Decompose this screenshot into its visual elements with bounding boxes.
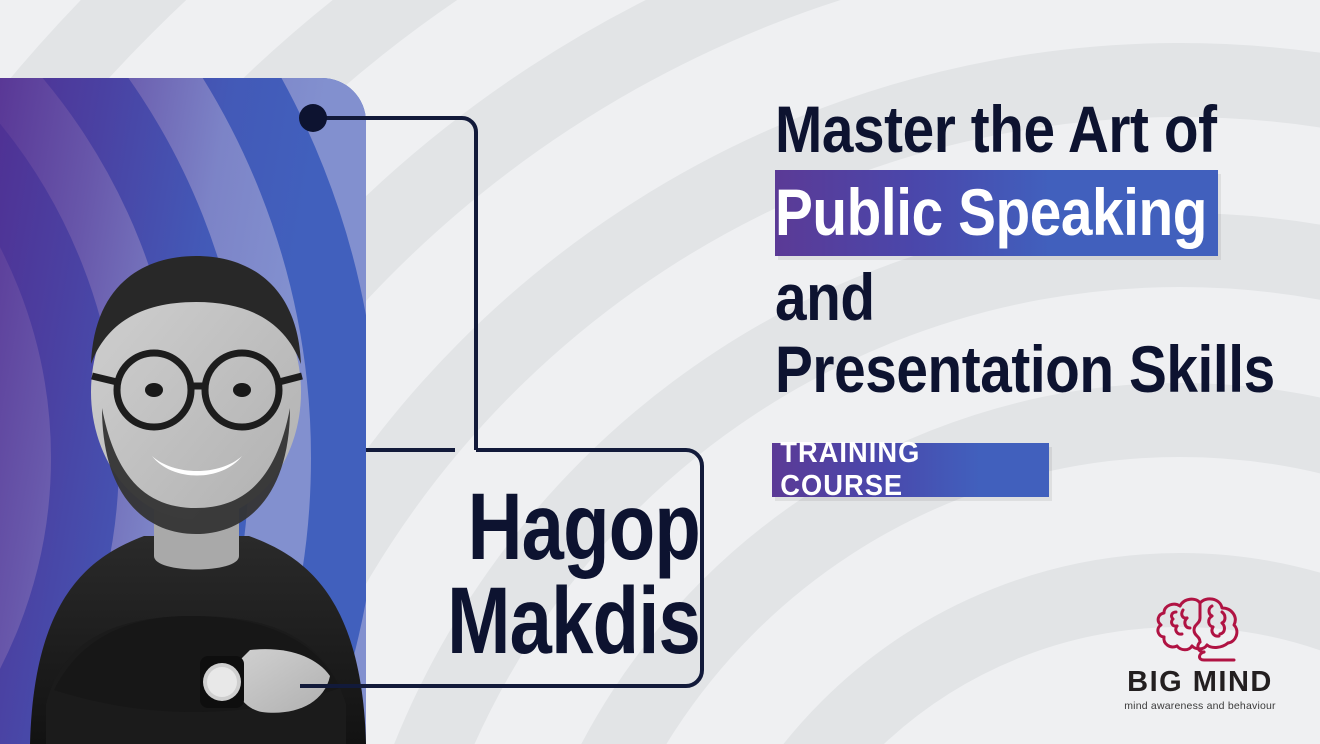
speaker-photo [0,164,394,744]
headline-block: Master the Art of Public Speaking and Pr… [775,96,1295,402]
logo-tagline: mind awareness and behaviour [1120,701,1280,712]
headline-line-4: Presentation Skills [775,336,1222,402]
training-course-badge: TRAINING COURSE [772,443,1049,497]
training-course-badge-label: TRAINING COURSE [780,437,1040,503]
headline-line-1: Master the Art of [775,96,1222,162]
speaker-name: Hagop Makdis [380,480,700,668]
headline-line-3: and [775,264,1222,330]
promo-banner: Hagop Makdis Master the Art of Public Sp… [0,0,1320,744]
headline-line-2: Public Speaking [775,179,1156,245]
logo-name: BIG MIND [1120,668,1280,697]
logo: BIG MIND mind awareness and behaviour [1120,588,1280,712]
headline-highlight-bar: Public Speaking [775,170,1218,256]
brain-icon [1150,588,1250,666]
